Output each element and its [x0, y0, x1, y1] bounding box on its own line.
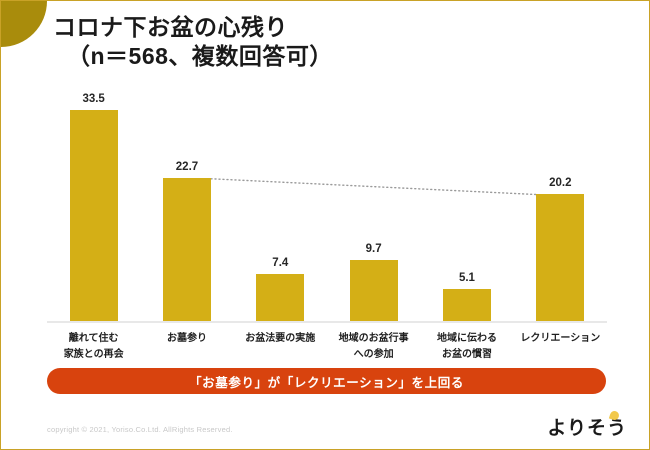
category-label-line: レクリエーション: [514, 331, 607, 347]
slide-canvas: コロナ下お盆の心残り （n＝568、複数回答可） 33.522.77.49.75…: [0, 0, 650, 450]
bar-group: 7.4: [234, 97, 327, 321]
category-label: 地域に伝わるお盆の慣習: [420, 331, 513, 362]
category-label-line: 家族との再会: [47, 347, 140, 363]
bar-value-label: 9.7: [366, 243, 382, 255]
bar: [163, 178, 211, 321]
chart-plot-area: 33.522.77.49.75.120.2: [47, 97, 607, 323]
category-label: 地域のお盆行事への参加: [327, 331, 420, 362]
page-title: コロナ下お盆の心残り （n＝568、複数回答可）: [53, 13, 613, 72]
bar: [350, 260, 398, 321]
bar-value-label: 33.5: [82, 93, 104, 105]
title-line-1: コロナ下お盆の心残り: [53, 13, 613, 42]
bar: [443, 289, 491, 321]
category-label-line: 地域のお盆行事: [327, 331, 420, 347]
chart-category-labels: 離れて住む家族との再会お墓参りお盆法要の実施地域のお盆行事への参加地域に伝わるお…: [47, 331, 607, 371]
yoriso-logo: よりそう: [547, 412, 627, 438]
category-label-line: 地域に伝わる: [420, 331, 513, 347]
category-label: お盆法要の実施: [234, 331, 327, 347]
bar-value-label: 7.4: [272, 257, 288, 269]
bar-group: 9.7: [327, 97, 420, 321]
category-label: レクリエーション: [514, 331, 607, 347]
bar-value-label: 22.7: [176, 161, 198, 173]
category-label-line: お盆法要の実施: [234, 331, 327, 347]
bar: [256, 274, 304, 321]
bar: [70, 110, 118, 321]
highlight-banner: 「お墓参り」が「レクリエーション」を上回る: [47, 368, 606, 394]
copyright-text: copyright © 2021, Yoriso.Co.Ltd. AllRigh…: [47, 425, 233, 434]
bar: [536, 194, 584, 321]
category-label: 離れて住む家族との再会: [47, 331, 140, 362]
category-label-line: お墓参り: [140, 331, 233, 347]
bar-chart: 33.522.77.49.75.120.2: [47, 97, 607, 325]
title-line-2: （n＝568、複数回答可）: [53, 42, 613, 71]
bar-group: 22.7: [140, 97, 233, 321]
bar-value-label: 5.1: [459, 272, 475, 284]
bar-group: 5.1: [420, 97, 513, 321]
logo-text: よりそう: [547, 419, 627, 438]
bar-group: 20.2: [514, 97, 607, 321]
category-label: お墓参り: [140, 331, 233, 347]
bar-group: 33.5: [47, 97, 140, 321]
category-label-line: お盆の慣習: [420, 347, 513, 363]
highlight-banner-text: 「お墓参り」が「レクリエーション」を上回る: [189, 372, 464, 391]
category-label-line: への参加: [327, 347, 420, 363]
bar-value-label: 20.2: [549, 177, 571, 189]
chart-baseline: [47, 321, 607, 323]
category-label-line: 離れて住む: [47, 331, 140, 347]
corner-arc-decoration: [0, 0, 47, 47]
